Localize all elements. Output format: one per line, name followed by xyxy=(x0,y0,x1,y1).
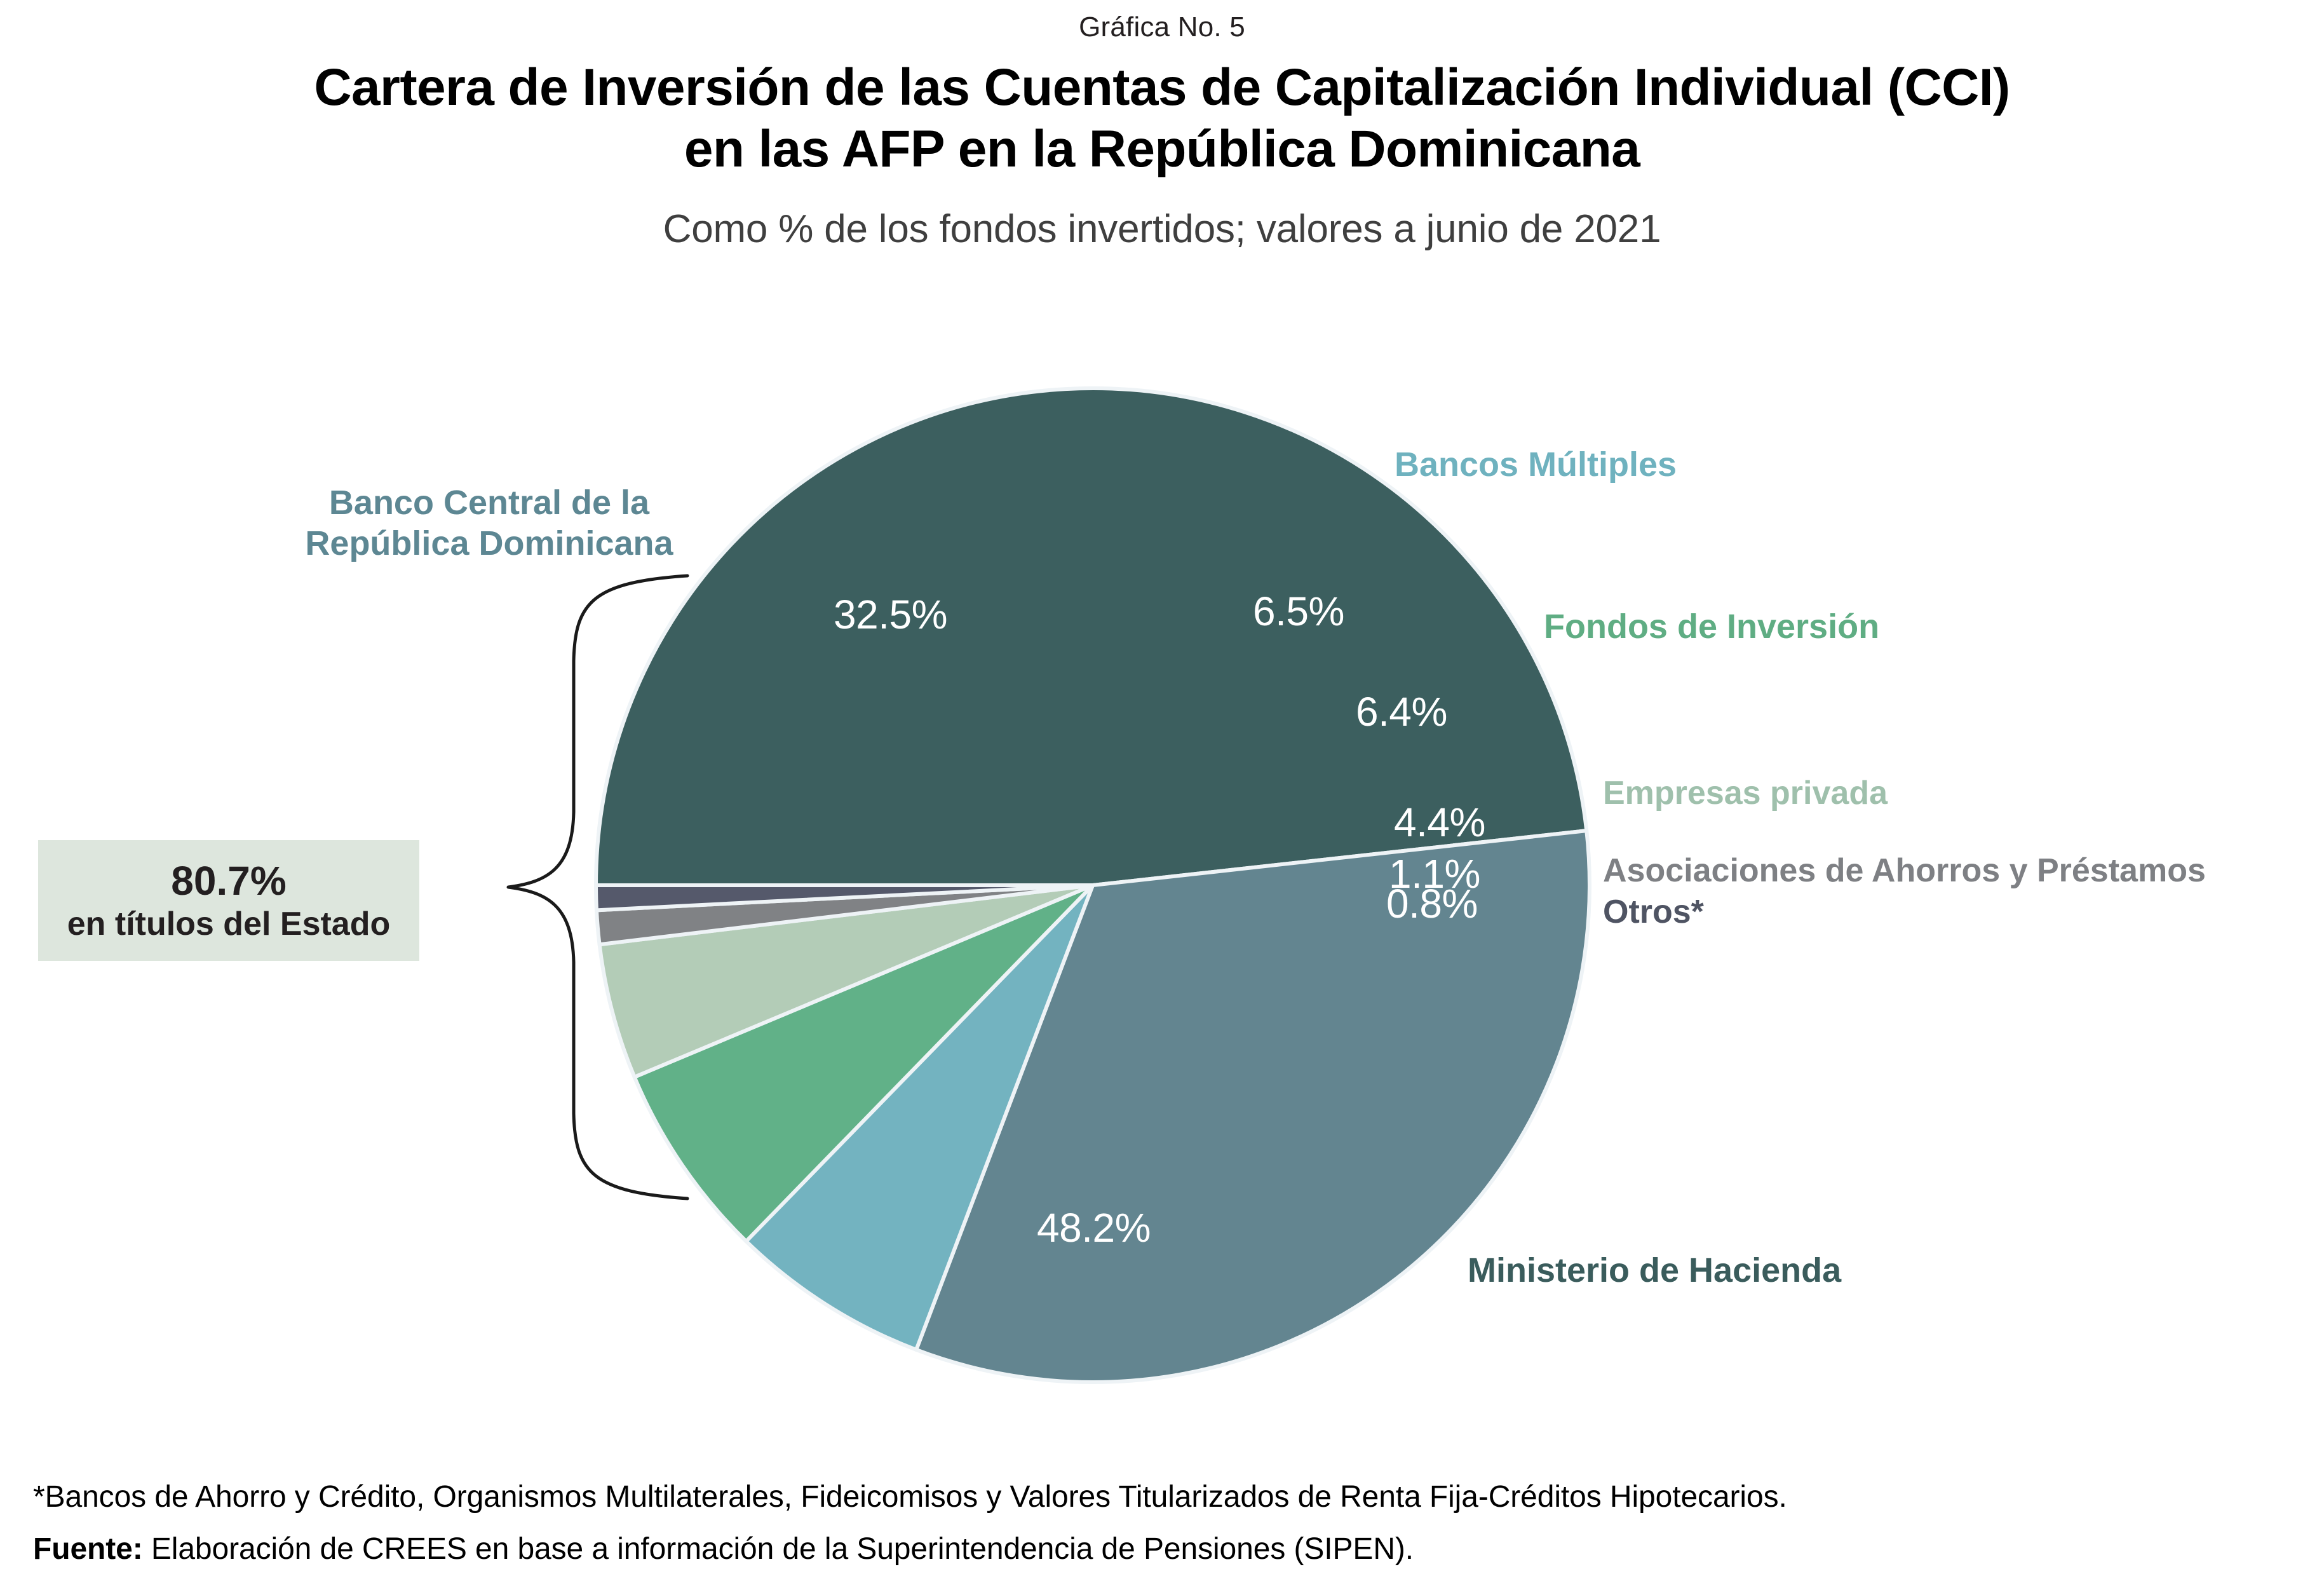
slice-value-ministerio-hacienda: 48.2% xyxy=(1037,1204,1151,1251)
footnote-source: Fuente: Elaboración de CREES en base a i… xyxy=(33,1532,1414,1566)
category-label-empresas-privada: Empresas privada xyxy=(1603,774,1888,813)
pie-chart-svg: Ministerio de Hacienda 48.2%Banco Centra… xyxy=(0,0,2324,1590)
slice-value-bancos-multiples: 6.5% xyxy=(1253,588,1344,635)
slice-value-banco-central: 32.5% xyxy=(834,591,947,638)
slice-value-otros: 0.8% xyxy=(1386,880,1478,927)
category-label-banco-central: Banco Central de la República Dominicana xyxy=(254,483,724,564)
footnote-source-label: Fuente: xyxy=(33,1532,143,1566)
category-label-ministerio-hacienda: Ministerio de Hacienda xyxy=(1468,1251,1841,1291)
category-label-bancos-multiples: Bancos Múltiples xyxy=(1395,445,1677,486)
footnote-asterisk: *Bancos de Ahorro y Crédito, Organismos … xyxy=(33,1479,1787,1514)
category-label-fondos-inversion: Fondos de Inversión xyxy=(1544,607,1879,648)
footnote-source-text: Elaboración de CREES en base a informaci… xyxy=(143,1532,1414,1566)
state-titles-callout-text: en títulos del Estado xyxy=(67,907,391,941)
slice-value-empresas-privada: 4.4% xyxy=(1394,799,1485,846)
state-titles-callout-box: 80.7% en títulos del Estado xyxy=(38,840,419,961)
category-label-banco-central-line-1: Banco Central de la xyxy=(329,484,649,522)
category-label-otros: Otros* xyxy=(1603,893,1704,932)
pie-chart: Ministerio de Hacienda 48.2%Banco Centra… xyxy=(0,0,2324,1590)
category-label-banco-central-line-2: República Dominicana xyxy=(305,524,673,562)
slice-value-fondos-inversion: 6.4% xyxy=(1356,688,1447,735)
category-label-asociaciones: Asociaciones de Ahorros y Préstamos xyxy=(1603,852,2206,890)
state-titles-callout-value: 80.7% xyxy=(171,860,286,901)
